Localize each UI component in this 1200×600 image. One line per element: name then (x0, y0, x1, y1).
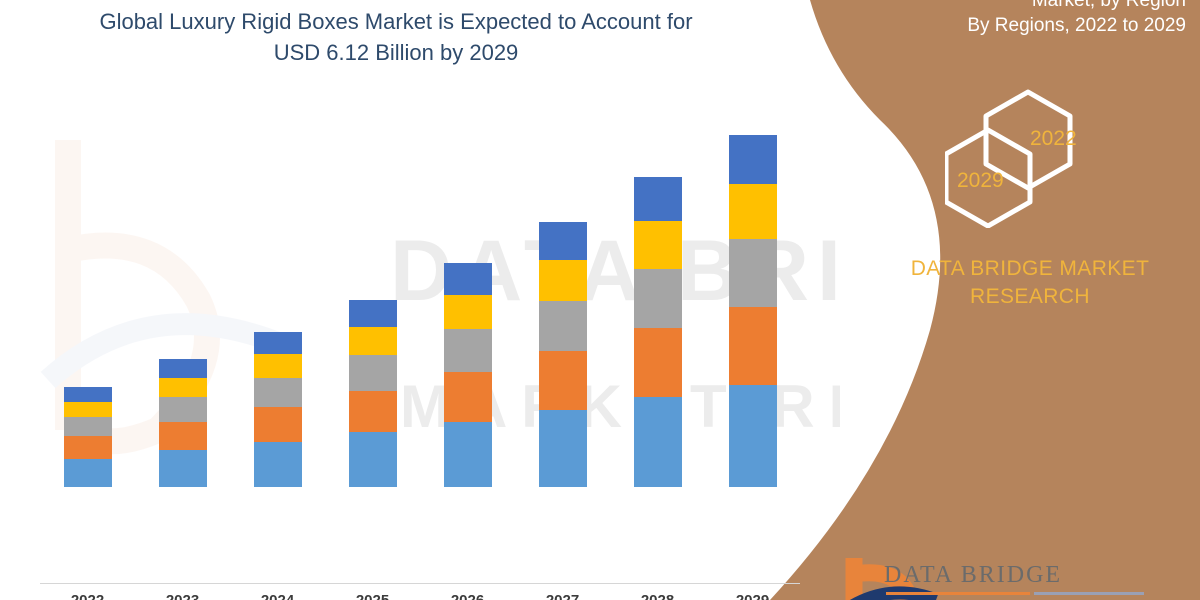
page-title: Global Luxury Rigid Boxes Market is Expe… (46, 6, 746, 68)
bar-segment[interactable] (539, 301, 587, 351)
bar-segment[interactable] (539, 351, 587, 410)
hexagon-icons (945, 88, 1115, 228)
bar-segment[interactable] (729, 239, 777, 307)
bar-segment[interactable] (634, 269, 682, 328)
chart-plot-area (40, 96, 800, 487)
bar-segment[interactable] (349, 391, 397, 433)
logo-rule-left (886, 592, 1030, 595)
bar-2026[interactable] (444, 263, 492, 487)
bar-2029[interactable] (729, 135, 777, 487)
bar-segment[interactable] (444, 263, 492, 295)
bar-segment[interactable] (444, 295, 492, 329)
page-title-line1: Global Luxury Rigid Boxes Market is Expe… (46, 6, 746, 37)
brand-line1: DATA BRIDGE MARKET (880, 255, 1180, 283)
bar-segment[interactable] (254, 442, 302, 487)
panel-heading-line2: By Regions, 2022 to 2029 (786, 13, 1186, 38)
bar-2028[interactable] (634, 177, 682, 487)
bar-segment[interactable] (729, 385, 777, 487)
bar-segment[interactable] (349, 432, 397, 487)
hexagon-label-old: 2029 (957, 169, 1004, 193)
bar-segment[interactable] (539, 222, 587, 259)
bar-2025[interactable] (349, 300, 397, 487)
bar-segment[interactable] (254, 332, 302, 355)
logo-rule-right (1034, 592, 1144, 595)
x-axis-label-2023: 2023 (138, 592, 228, 600)
bar-segment[interactable] (539, 260, 587, 301)
bar-segment[interactable] (159, 378, 207, 398)
bar-segment[interactable] (729, 135, 777, 184)
page-title-line2: USD 6.12 Billion by 2029 (46, 37, 746, 68)
bar-segment[interactable] (349, 327, 397, 355)
bar-segment[interactable] (64, 459, 112, 487)
bar-segment[interactable] (349, 355, 397, 391)
bar-segment[interactable] (64, 402, 112, 417)
bar-segment[interactable] (64, 417, 112, 436)
x-axis-label-2029: 2029 (708, 592, 798, 600)
bar-2024[interactable] (254, 332, 302, 487)
bar-segment[interactable] (634, 328, 682, 397)
bar-segment[interactable] (159, 359, 207, 377)
bar-segment[interactable] (254, 407, 302, 441)
bar-segment[interactable] (634, 221, 682, 269)
bar-segment[interactable] (349, 300, 397, 327)
bar-segment[interactable] (729, 307, 777, 385)
bar-segment[interactable] (444, 372, 492, 422)
bar-2022[interactable] (64, 387, 112, 487)
bar-segment[interactable] (254, 354, 302, 378)
bar-2027[interactable] (539, 222, 587, 487)
x-axis-label-2024: 2024 (233, 592, 323, 600)
brand-name: DATA BRIDGE MARKET RESEARCH (880, 255, 1180, 311)
bar-segment[interactable] (444, 422, 492, 487)
logo-wordmark: DATA BRIDGE (884, 562, 1062, 589)
x-axis-label-2022: 2022 (43, 592, 133, 600)
hexagon-label-new: 2022 (1030, 127, 1077, 151)
brand-line2: RESEARCH (880, 283, 1180, 311)
bar-2023[interactable] (159, 359, 207, 487)
bar-segment[interactable] (729, 184, 777, 239)
panel-heading-line1: Market, by Region (786, 0, 1186, 13)
x-axis-label-2026: 2026 (423, 592, 513, 600)
bar-segment[interactable] (444, 329, 492, 372)
x-axis-label-2027: 2027 (518, 592, 608, 600)
bar-segment[interactable] (634, 397, 682, 487)
panel-heading: Market, by Region By Regions, 2022 to 20… (786, 0, 1186, 38)
bar-segment[interactable] (634, 177, 682, 220)
bar-segment[interactable] (159, 450, 207, 487)
bar-segment[interactable] (64, 436, 112, 459)
x-axis-label-2028: 2028 (613, 592, 703, 600)
x-axis-labels: 20222023202420252026202720282029 (0, 592, 820, 600)
x-axis-label-2025: 2025 (328, 592, 418, 600)
bar-segment[interactable] (159, 397, 207, 421)
hexagon-group (945, 88, 1115, 228)
bar-segment[interactable] (539, 410, 587, 487)
bar-segment[interactable] (64, 387, 112, 402)
x-axis-line (40, 583, 800, 584)
bar-segment[interactable] (254, 378, 302, 408)
bar-segment[interactable] (159, 422, 207, 450)
infographic-canvas: DATA BRIDGE MARKET RESEARCH Market, by R… (0, 0, 1200, 600)
stacked-bar-chart: 20222023202420252026202720282029 North A… (0, 96, 820, 496)
